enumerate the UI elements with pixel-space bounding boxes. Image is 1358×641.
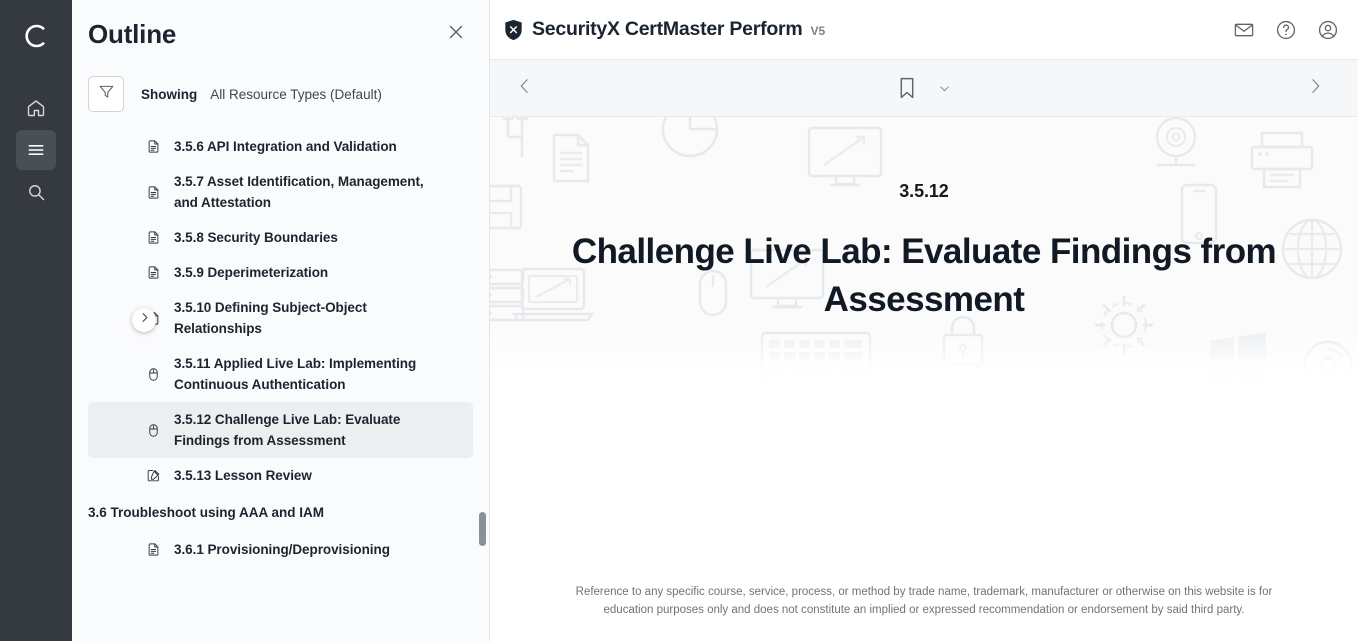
close-outline-button[interactable] <box>441 19 471 49</box>
list-item-label: 3.5.11 Applied Live Lab: Implementing Co… <box>174 353 451 395</box>
mouse-icon <box>144 423 162 438</box>
document-icon <box>144 185 162 200</box>
footer: Reference to any specific course, servic… <box>490 583 1358 641</box>
help-circle-icon[interactable] <box>1274 18 1298 42</box>
document-icon <box>144 542 162 557</box>
outline-panel: Outline Showing All Resource Types (Defa… <box>72 0 490 641</box>
header-icon-group <box>1232 18 1340 42</box>
outline-group-label: 3.6 Troubleshoot using AAA and IAM <box>88 505 324 520</box>
app-header: SecurityX CertMaster Perform V5 <box>490 0 1358 59</box>
list-item-label: 3.5.8 Security Boundaries <box>174 227 338 248</box>
next-lesson-button[interactable] <box>1294 67 1336 109</box>
close-icon <box>445 21 467 48</box>
list-item[interactable]: 3.5.6 API Integration and Validation <box>88 129 473 164</box>
list-item[interactable]: Architecture <box>88 120 473 129</box>
list-item-label: 3.5.13 Lesson Review <box>174 465 312 486</box>
document-icon <box>144 265 162 280</box>
list-item[interactable]: 3.5.13 Lesson Review <box>88 458 473 493</box>
list-item[interactable]: 3.5.8 Security Boundaries <box>88 220 473 255</box>
brand-name: SecurityX CertMaster Perform <box>532 18 802 41</box>
list-item-selected[interactable]: 3.5.12 Challenge Live Lab: Evaluate Find… <box>88 402 473 458</box>
lesson-number: 3.5.12 <box>544 181 1304 202</box>
outline-tree: Architecture 3.5.6 API Integration and V… <box>72 120 489 577</box>
list-item-label: 3.6.1 Provisioning/Deprovisioning <box>174 539 390 560</box>
disclaimer-text: Reference to any specific course, servic… <box>550 583 1298 619</box>
filter-row: Showing All Resource Types (Default) <box>72 68 489 120</box>
outline-scroll-region[interactable]: Architecture 3.5.6 API Integration and V… <box>72 120 489 641</box>
lesson-heading-block: 3.5.12 Challenge Live Lab: Evaluate Find… <box>544 181 1304 324</box>
sidebar-item-search[interactable] <box>16 172 56 212</box>
chevron-right-icon <box>138 311 151 329</box>
chevron-left-icon <box>515 76 535 101</box>
main-content: SecurityX CertMaster Perform V5 <box>490 0 1358 641</box>
pencil-square-icon <box>144 468 162 483</box>
showing-value[interactable]: All Resource Types (Default) <box>210 87 382 102</box>
bookmark-controls <box>490 73 1358 103</box>
left-rail <box>0 0 72 641</box>
filter-funnel-icon <box>97 82 116 106</box>
outline-header: Outline <box>72 0 489 68</box>
sidebar-item-outline[interactable] <box>16 130 56 170</box>
search-icon <box>26 182 46 202</box>
outline-scrollbar[interactable] <box>479 120 486 641</box>
banner-fade-overlay <box>490 329 1358 387</box>
comptia-c-logo[interactable] <box>16 16 56 56</box>
list-item-label: Architecture <box>174 120 253 122</box>
list-item-label: 3.5.10 Defining Subject-Object Relations… <box>174 297 451 339</box>
lesson-banner: 3.5.12 Challenge Live Lab: Evaluate Find… <box>490 117 1358 387</box>
bookmark-icon[interactable] <box>894 73 920 103</box>
list-item-label: 3.5.6 API Integration and Validation <box>174 136 397 157</box>
filter-button[interactable] <box>88 76 124 112</box>
list-item-label: 3.5.7 Asset Identification, Management, … <box>174 171 451 213</box>
showing-label: Showing <box>141 87 197 102</box>
list-item-label: 3.5.9 Deperimeterization <box>174 262 328 283</box>
brand: SecurityX CertMaster Perform V5 <box>504 18 1232 41</box>
list-item-label: 3.5.12 Challenge Live Lab: Evaluate Find… <box>174 409 451 451</box>
chevron-right-icon <box>1305 76 1325 101</box>
page-title: Outline <box>88 19 441 50</box>
lesson-toolbar <box>490 59 1358 117</box>
list-item[interactable]: 3.5.7 Asset Identification, Management, … <box>88 164 473 220</box>
mail-icon[interactable] <box>1232 18 1256 42</box>
shield-check-icon <box>504 19 523 41</box>
outline-scrollbar-thumb[interactable] <box>479 512 486 546</box>
list-item[interactable]: 3.5.9 Deperimeterization <box>88 255 473 290</box>
document-icon <box>144 139 162 154</box>
app-root: Outline Showing All Resource Types (Defa… <box>0 0 1358 641</box>
document-icon <box>144 230 162 245</box>
list-item[interactable]: 3.5.11 Applied Live Lab: Implementing Co… <box>88 346 473 402</box>
outline-menu-icon <box>26 140 46 160</box>
mouse-icon <box>144 367 162 382</box>
previous-lesson-button[interactable] <box>504 67 546 109</box>
lesson-title: Challenge Live Lab: Evaluate Findings fr… <box>544 228 1304 324</box>
sidebar-item-home[interactable] <box>16 88 56 128</box>
home-icon <box>26 98 46 118</box>
outline-group-heading[interactable]: 3.6 Troubleshoot using AAA and IAM <box>72 493 489 532</box>
user-account-icon[interactable] <box>1316 18 1340 42</box>
expand-panel-button[interactable] <box>132 308 156 332</box>
version-badge: V5 <box>810 24 825 38</box>
lesson-body <box>490 387 1358 583</box>
chevron-down-icon[interactable] <box>934 78 954 98</box>
list-item[interactable]: 3.6.1 Provisioning/Deprovisioning <box>88 532 473 567</box>
